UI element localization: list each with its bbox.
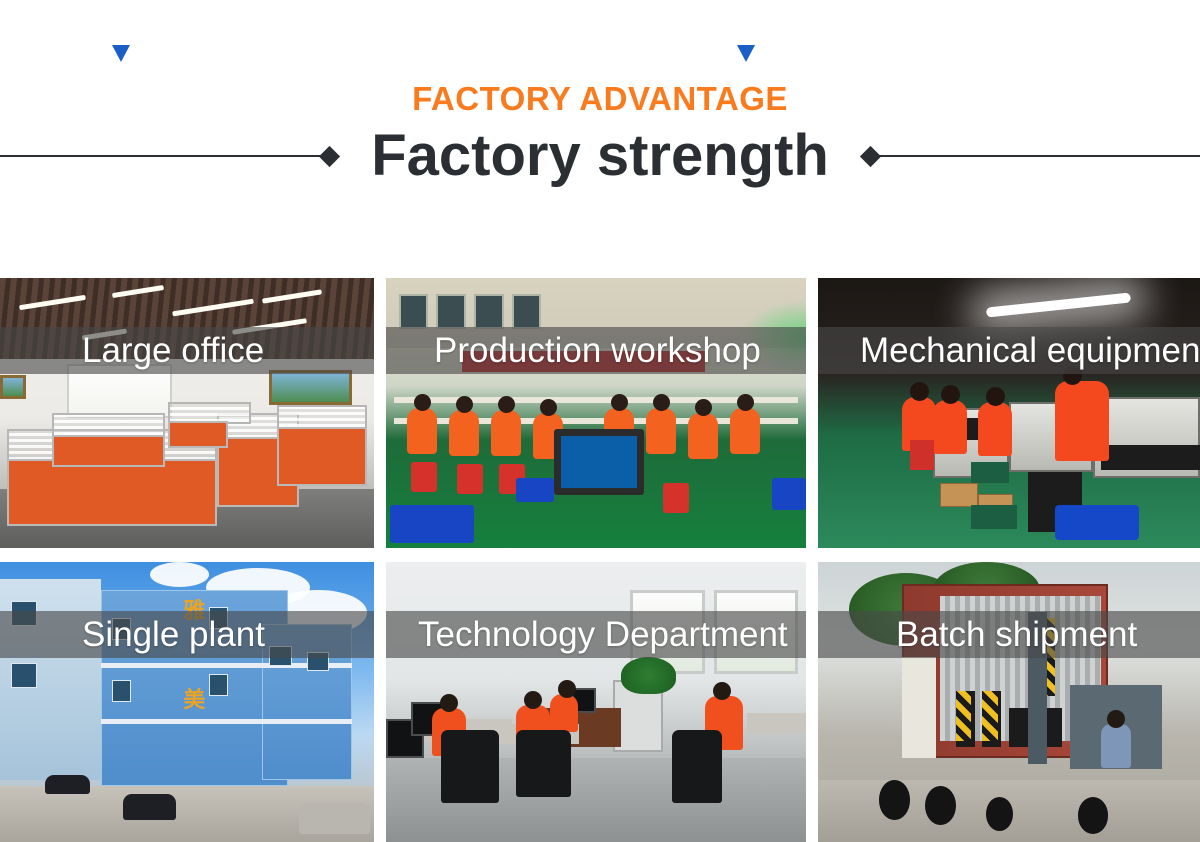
photo-large-office [0,278,374,548]
caption-band: Mechanical equipment [818,327,1200,374]
section-eyebrow: FACTORY ADVANTAGE [0,80,1200,118]
gallery-tile-technology-department[interactable]: Technology Department [386,562,806,842]
rule-left [0,155,322,157]
page-header: FACTORY ADVANTAGE Factory strength [0,0,1200,268]
photo-technology-department [386,562,806,842]
caption-band: Technology Department [386,611,806,658]
caption-band: Large office [0,327,374,374]
photo-batch-shipment [818,562,1200,842]
diamond-right-icon [860,146,881,167]
tile-caption: Single plant [0,611,265,658]
photo-mechanical-equipment [818,278,1200,548]
gallery-tile-batch-shipment[interactable]: Batch shipment [818,562,1200,842]
photo-single-plant: 雅 美 [0,562,374,842]
page-title: Factory strength [337,126,863,187]
gallery-tile-production-workshop[interactable]: Production workshop [386,278,806,548]
caption-band: Single plant [0,611,374,658]
caption-band: Batch shipment [818,611,1200,658]
tile-caption: Production workshop [386,327,761,374]
gallery-tile-large-office[interactable]: Large office [0,278,374,548]
rule-right [878,155,1200,157]
tile-caption: Batch shipment [818,611,1137,658]
tile-caption: Mechanical equipment [818,327,1200,374]
triangle-down-marker-right-icon [737,45,755,62]
caption-band: Production workshop [386,327,806,374]
tile-caption: Large office [0,327,264,374]
gallery-tile-mechanical-equipment[interactable]: Mechanical equipment [818,278,1200,548]
factory-gallery-grid: Large office [0,278,1200,842]
title-row: Factory strength [0,126,1200,187]
triangle-down-marker-left-icon [112,45,130,62]
photo-production-workshop [386,278,806,548]
page-root: FACTORY ADVANTAGE Factory strength [0,0,1200,842]
tile-caption: Technology Department [386,611,788,658]
gallery-tile-single-plant[interactable]: 雅 美 Single plant [0,562,374,842]
